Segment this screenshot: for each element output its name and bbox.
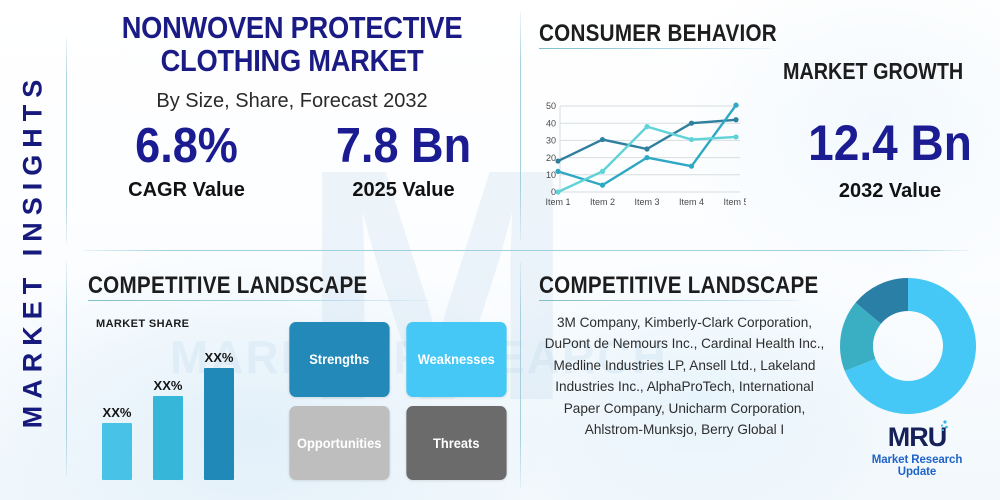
divider-middle-top <box>520 12 521 240</box>
underline-competitive-left <box>88 300 428 301</box>
growth-value: 12.4 Bn <box>798 118 982 168</box>
chart-data-point <box>733 103 738 108</box>
market-share-bar-chart: MARKET SHARE XX%XX%XX% <box>96 318 271 480</box>
swot-box-opportunities[interactable]: Opportunities <box>289 406 389 481</box>
y-axis-tick-label: 30 <box>546 136 556 146</box>
y-axis-tick-label: 40 <box>546 118 556 128</box>
line-chart-svg: 01020304050Item 1Item 2Item 3Item 4Item … <box>536 100 746 218</box>
key-stats-row: 6.8% CAGR Value 7.8 Bn 2025 Value <box>78 122 512 202</box>
donut-chart <box>838 276 978 421</box>
x-axis-tick-label: Item 2 <box>590 197 615 207</box>
divider-left-bottom <box>66 262 67 477</box>
chart-series-line <box>558 105 736 185</box>
section-heading-consumer-behavior: CONSUMER BEHAVIOR <box>539 20 777 48</box>
bar-column: XX% <box>102 336 132 480</box>
logo-mark: MRU <box>888 424 947 451</box>
x-axis-tick-label: Item 5 <box>723 197 746 207</box>
page-subtitle: By Size, Share, Forecast 2032 <box>72 90 512 113</box>
underline-competitive-right <box>539 300 799 301</box>
infographic-canvas: M MARKET RESEARCH MARKET INSIGHTS NONWOV… <box>0 0 1000 500</box>
y-axis-tick-label: 20 <box>546 153 556 163</box>
x-axis-tick-label: Item 1 <box>545 197 570 207</box>
y-axis-tick-label: 50 <box>546 101 556 111</box>
bar-value-label: XX% <box>153 378 183 393</box>
logo-mark-text: MRU <box>888 422 947 452</box>
swot-label-opportunities: Opportunities <box>297 435 381 451</box>
stat-2025-value: 7.8 Bn <box>304 122 504 171</box>
swot-label-threats: Threats <box>432 435 479 451</box>
y-axis-tick-label: 10 <box>546 170 556 180</box>
swot-label-weaknesses: Weaknesses <box>417 351 494 367</box>
bar-value-label: XX% <box>204 350 234 365</box>
brand-logo: MRU Market Research Update <box>852 424 982 478</box>
swot-grid: Strengths Weaknesses Opportunities Threa… <box>285 322 510 480</box>
chart-data-point <box>689 164 694 169</box>
chart-data-point <box>644 124 649 129</box>
stat-cagr-label: CAGR Value <box>78 179 295 202</box>
chart-data-point <box>555 158 560 163</box>
bar-column: XX% <box>153 336 183 480</box>
logo-tagline: Market Research Update <box>852 454 982 478</box>
bar-value-label: XX% <box>102 405 132 420</box>
chart-data-point <box>733 117 738 122</box>
stat-2025: 7.8 Bn 2025 Value <box>295 122 512 202</box>
section-heading-competitive-left: COMPETITIVE LANDSCAPE <box>88 272 368 300</box>
chart-data-point <box>555 169 560 174</box>
swot-box-weaknesses[interactable]: Weaknesses <box>406 322 506 397</box>
x-axis-tick-label: Item 3 <box>634 197 659 207</box>
side-rail: MARKET INSIGHTS <box>0 0 66 500</box>
chart-data-point <box>644 155 649 160</box>
stat-2025-label: 2025 Value <box>295 179 512 202</box>
swot-box-threats[interactable]: Threats <box>406 406 506 481</box>
bar-rect <box>153 396 183 480</box>
bar-chart-plot: XX%XX%XX% <box>96 336 271 480</box>
divider-middle-bottom <box>520 262 521 488</box>
divider-horizontal <box>84 250 969 251</box>
divider-left-top <box>66 38 67 243</box>
company-list: 3M Company, Kimberly-Clark Corporation, … <box>537 312 832 441</box>
chart-data-point <box>555 189 560 194</box>
x-axis-tick-label: Item 4 <box>679 197 704 207</box>
chart-data-point <box>689 121 694 126</box>
line-chart: 01020304050Item 1Item 2Item 3Item 4Item … <box>536 100 746 223</box>
swot-box-strengths[interactable]: Strengths <box>289 322 389 397</box>
bar-column: XX% <box>204 336 234 480</box>
bar-rect <box>102 423 132 480</box>
section-heading-competitive-right: COMPETITIVE LANDSCAPE <box>539 272 819 300</box>
chart-data-point <box>600 137 605 142</box>
chart-data-point <box>600 169 605 174</box>
underline-consumer-behavior <box>539 48 771 49</box>
y-axis-tick-label: 0 <box>551 187 556 197</box>
bar-rect <box>204 368 234 480</box>
logo-droplet-icon <box>939 419 949 441</box>
chart-data-point <box>644 146 649 151</box>
chart-data-point <box>600 183 605 188</box>
page-title: NONWOVEN PROTECTIVE CLOTHING MARKET <box>98 12 485 78</box>
stat-cagr-value: 6.8% <box>87 122 287 171</box>
chart-data-point <box>733 134 738 139</box>
section-heading-market-growth: MARKET GROWTH <box>783 58 963 85</box>
bar-chart-title: MARKET SHARE <box>96 318 189 330</box>
side-rail-label: MARKET INSIGHTS <box>18 72 49 428</box>
donut-chart-svg <box>838 276 978 416</box>
title-block: NONWOVEN PROTECTIVE CLOTHING MARKET By S… <box>72 12 512 113</box>
growth-label: 2032 Value <box>790 180 990 203</box>
swot-label-strengths: Strengths <box>309 351 369 367</box>
chart-data-point <box>689 137 694 142</box>
stat-cagr: 6.8% CAGR Value <box>78 122 295 202</box>
